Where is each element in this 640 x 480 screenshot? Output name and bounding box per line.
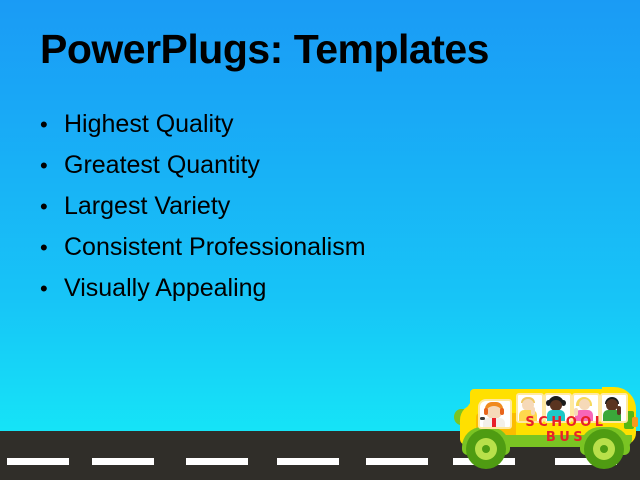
list-item-label: Greatest Quantity: [64, 151, 260, 179]
list-item: • Greatest Quantity: [40, 151, 560, 192]
bus-lettering-line-1: SCHOOL: [512, 415, 620, 430]
driver-tie: [492, 418, 496, 427]
list-item: • Highest Quality: [40, 110, 560, 151]
list-item-label: Largest Variety: [64, 192, 230, 220]
bullet-list: • Highest Quality • Greatest Quantity • …: [40, 110, 560, 315]
bus-window-driver: [478, 399, 512, 429]
bullet-point-icon: •: [40, 193, 64, 221]
list-item: • Visually Appealing: [40, 274, 560, 315]
list-item: • Consistent Professionalism: [40, 233, 560, 274]
bullet-point-icon: •: [40, 275, 64, 303]
road-dash: [92, 458, 154, 465]
list-item-label: Visually Appealing: [64, 274, 266, 302]
bus-front-wheel-core: [482, 445, 490, 453]
bus-taillight-orange: [632, 417, 638, 427]
child-3-head: [579, 399, 590, 410]
child-1-arm: [531, 407, 535, 415]
bullet-point-icon: •: [40, 152, 64, 180]
bullet-point-icon: •: [40, 111, 64, 139]
road-dash: [7, 458, 69, 465]
bus-rear-wheel-core: [600, 445, 608, 453]
list-item-label: Consistent Professionalism: [64, 233, 366, 261]
presentation-slide: PowerPlugs: Templates • Highest Quality …: [0, 0, 640, 480]
driver-hair: [500, 408, 504, 415]
bus-rear-wheel: [584, 429, 624, 469]
page-title: PowerPlugs: Templates: [40, 26, 489, 73]
driver-hair: [484, 408, 488, 415]
list-item: • Largest Variety: [40, 192, 560, 233]
bus-front-wheel: [466, 429, 506, 469]
school-bus-icon: SCHOOL BUS: [452, 371, 640, 469]
child-4-arm: [617, 406, 621, 415]
bullet-point-icon: •: [40, 234, 64, 262]
road-dash: [277, 458, 339, 465]
list-item-label: Highest Quality: [64, 110, 234, 138]
road-dash: [186, 458, 248, 465]
steering-wheel-icon: [480, 417, 485, 420]
road-dash: [366, 458, 428, 465]
